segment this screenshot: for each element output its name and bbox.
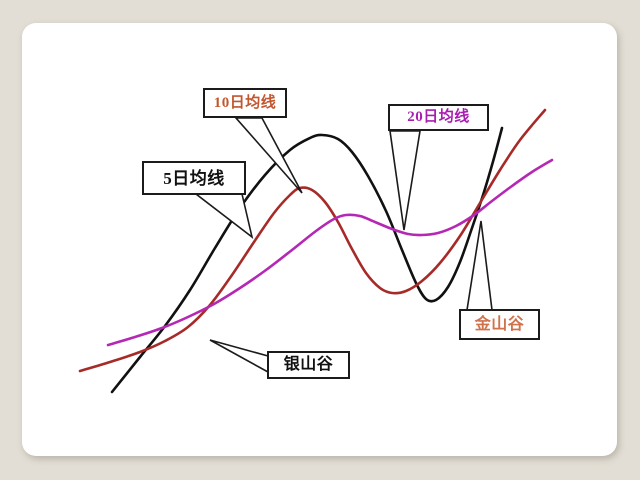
callout-golden-valley[interactable]: 金山谷: [459, 309, 540, 340]
callout-leader-lines: [196, 118, 492, 372]
callout-ma5[interactable]: 5日均线: [142, 161, 246, 195]
callout-ma10-label: 10日均线: [214, 96, 277, 111]
callout-golden-valley-label: 金山谷: [475, 317, 525, 333]
callout-ma10[interactable]: 10日均线: [203, 88, 287, 118]
callout-silver-valley[interactable]: 银山谷: [267, 351, 350, 379]
chart-stage: 5日均线 10日均线 20日均线 银山谷 金山谷: [0, 0, 640, 480]
callout-silver-valley-label: 银山谷: [284, 357, 334, 373]
callout-ma20-label: 20日均线: [407, 110, 470, 125]
callout-ma5-label: 5日均线: [163, 170, 225, 187]
moving-average-chart: [0, 0, 640, 480]
leader-ma5: [196, 194, 252, 237]
callout-ma20[interactable]: 20日均线: [388, 104, 489, 131]
leader-silver-valley: [210, 340, 268, 372]
leader-ma20: [390, 131, 420, 230]
